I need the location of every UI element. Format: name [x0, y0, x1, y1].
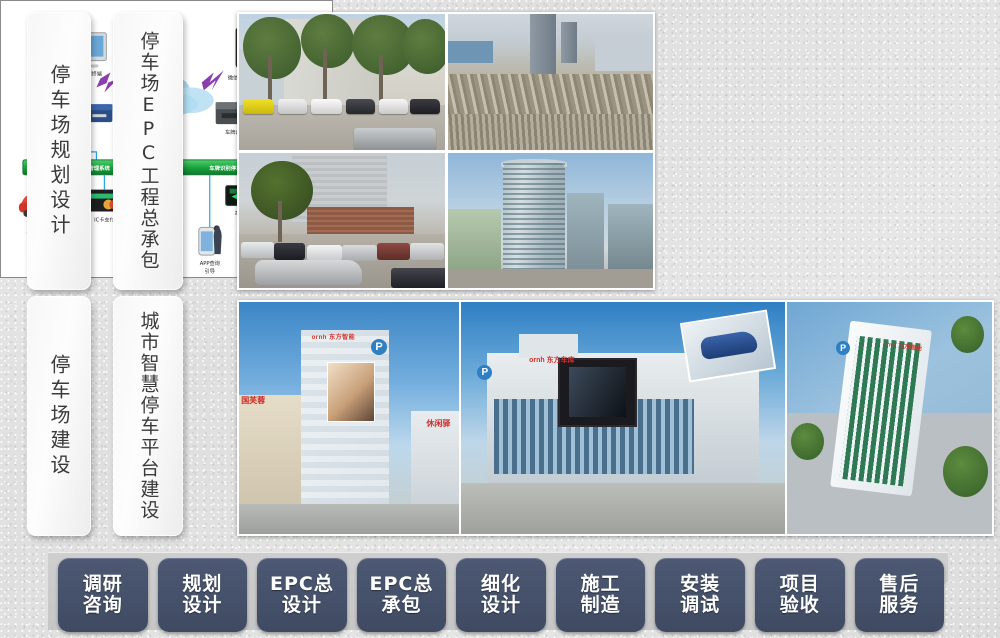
process-step-label: 调研 咨询 [83, 574, 123, 617]
process-step-label: 规划 设计 [182, 574, 222, 617]
service-card-label: 停车场规划设计 [49, 64, 69, 239]
process-step-label: 施工 制造 [581, 574, 621, 617]
process-step-aftersales[interactable]: 售后 服务 [855, 558, 945, 632]
process-step-epc-contract[interactable]: EPC总 承包 [357, 558, 447, 632]
service-card-label: 停车场建设 [49, 354, 69, 479]
process-step-detail-design[interactable]: 细化 设计 [456, 558, 546, 632]
app-query-label-1: APP查询 [200, 259, 220, 267]
sign-left: 国芙蓉 [241, 395, 265, 406]
mobile-app-icon [199, 225, 222, 255]
process-step-acceptance[interactable]: 项目 验收 [755, 558, 845, 632]
page-background: 停车场规划设计 停车场EPC工程总承包 停车场建设 城市智慧停车平台建设 [0, 0, 1000, 638]
process-step-installation[interactable]: 安装 调试 [655, 558, 745, 632]
parking-badge-icon: P [477, 365, 492, 380]
process-step-epc-design[interactable]: EPC总 设计 [257, 558, 347, 632]
process-step-label: 售后 服务 [879, 574, 919, 617]
brand-logo: ornh 东方车库 [529, 355, 575, 365]
process-step-label: EPC总 设计 [270, 574, 334, 617]
process-steps: 调研 咨询 规划 设计 EPC总 设计 EPC总 承包 细化 设计 施工 制造 … [58, 558, 944, 632]
app-query-label-2: 引导 [205, 267, 215, 275]
service-card-label: 停车场EPC工程总承包 [139, 31, 158, 271]
photo-brick-building-parking [239, 153, 445, 289]
photo-street-parking [239, 14, 445, 150]
process-step-planning[interactable]: 规划 设计 [158, 558, 248, 632]
sign-right: 休闲驿 [426, 418, 450, 429]
rendering-parking-tower: P ornh 东方智能 国芙蓉 休闲驿 [239, 302, 459, 534]
service-card-label: 城市智慧停车平台建设 [139, 311, 158, 521]
process-step-label: 安装 调试 [680, 574, 720, 617]
photo-office-tower [448, 153, 654, 289]
process-step-construction[interactable]: 施工 制造 [556, 558, 646, 632]
ic-card-pay-label: IC卡支付 [94, 215, 115, 223]
process-step-label: EPC总 承包 [370, 574, 434, 617]
service-card-parking-planning-design[interactable]: 停车场规划设计 [27, 12, 91, 290]
brand-logo: ornh 东方智能 [312, 332, 356, 341]
project-renderings-panel: P ornh 东方智能 国芙蓉 休闲驿 ornh 东方车库 P [237, 300, 994, 536]
service-card-parking-construction[interactable]: 停车场建设 [27, 296, 91, 536]
service-card-smart-parking-platform[interactable]: 城市智慧停车平台建设 [113, 296, 183, 536]
rendering-aerial-tower: P ornh 东方智能 [787, 302, 992, 534]
process-step-research[interactable]: 调研 咨询 [58, 558, 148, 632]
photo-aerial-parking-lot [448, 14, 654, 150]
process-step-label: 细化 设计 [481, 574, 521, 617]
process-step-label: 项目 验收 [780, 574, 820, 617]
rendering-smart-garage: ornh 东方车库 P [461, 302, 785, 534]
lightning-connector-right [202, 70, 224, 90]
service-card-parking-epc-contracting[interactable]: 停车场EPC工程总承包 [113, 12, 183, 290]
photo-collage-panel [237, 12, 655, 290]
